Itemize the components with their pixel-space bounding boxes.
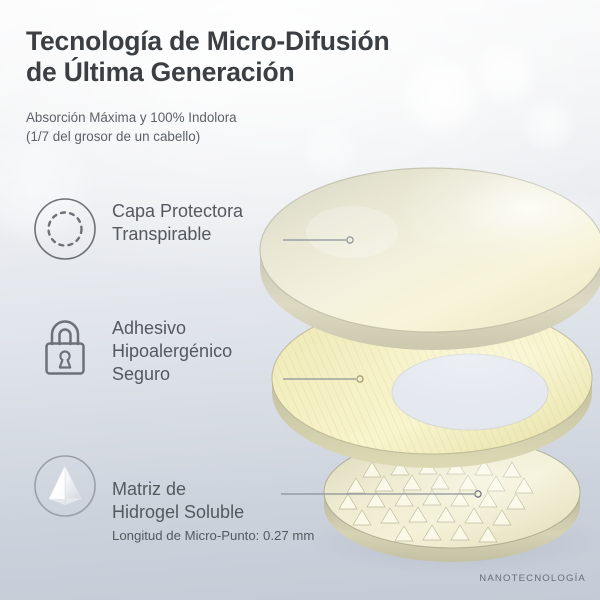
feature-label: Adhesivo Hipoalergénico Seguro xyxy=(112,313,232,387)
feature-list: Capa Protectora Transpirable Adhesivo Hi… xyxy=(0,0,600,600)
padlock-icon xyxy=(32,313,98,379)
micro-point-length-note: Longitud de Micro-Punto: 0.27 mm xyxy=(112,527,314,544)
infographic-canvas: Tecnología de Micro-Difusión de Última G… xyxy=(0,0,600,600)
feature-label: Capa Protectora Transpirable xyxy=(112,196,243,246)
dashed-circle-breathable-icon xyxy=(32,196,98,262)
nanotechnology-label: NANOTECNOLOGÍA xyxy=(479,573,586,584)
feature-label-main: Matriz de Hidrogel Soluble xyxy=(112,479,244,522)
feature-item-protective-layer: Capa Protectora Transpirable xyxy=(32,196,243,262)
feature-label: Matriz de Hidrogel Soluble Longitud de M… xyxy=(112,453,314,567)
feature-item-hypoallergenic-adhesive: Adhesivo Hipoalergénico Seguro xyxy=(32,313,232,387)
feature-item-hydrogel-matrix: Matriz de Hidrogel Soluble Longitud de M… xyxy=(32,453,314,567)
microneedle-cone-icon xyxy=(32,453,98,519)
